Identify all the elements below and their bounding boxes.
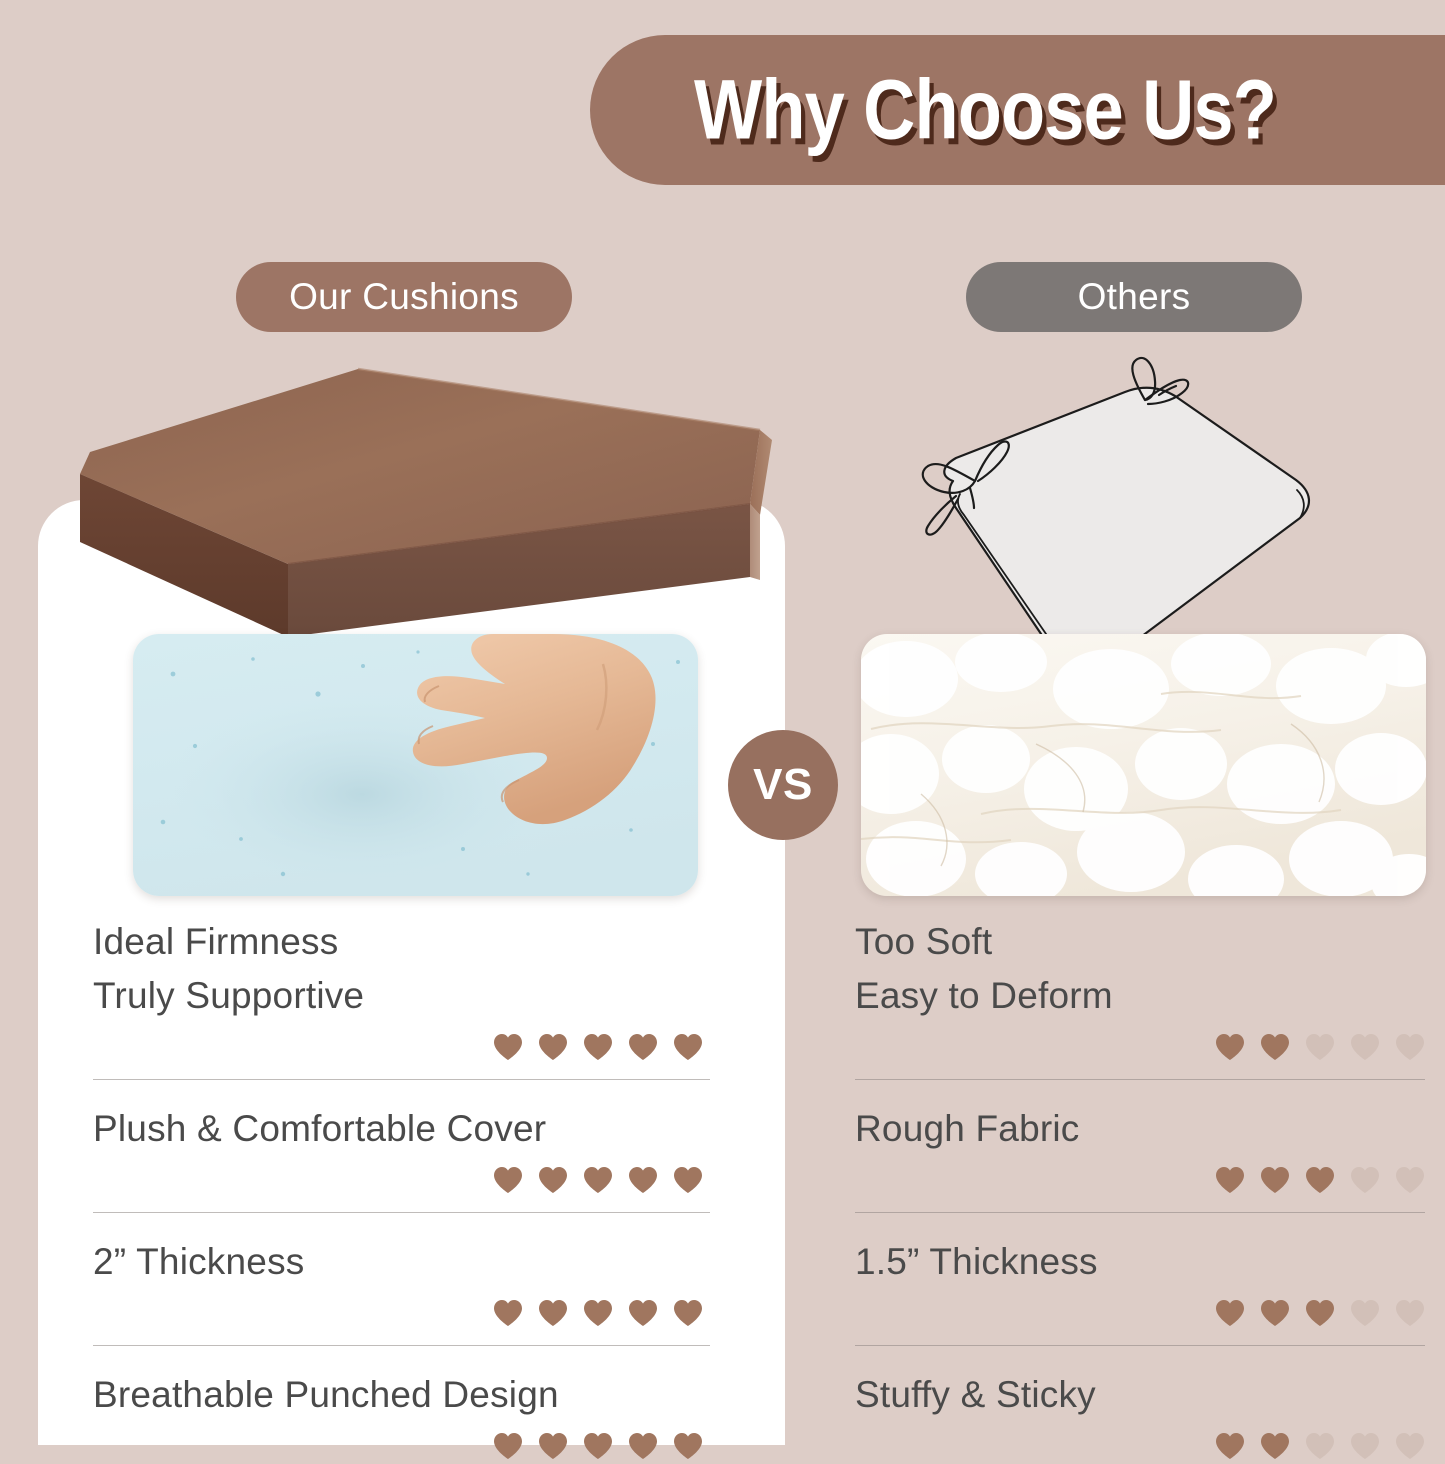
heart-icon xyxy=(583,1166,613,1194)
feature-row: Breathable Punched Design xyxy=(93,1368,710,1464)
rating-hearts xyxy=(93,1029,710,1065)
heart-icon xyxy=(1305,1166,1335,1194)
feature-label: Rough Fabric xyxy=(855,1102,1425,1156)
heart-icon xyxy=(1350,1432,1380,1460)
rating-hearts xyxy=(855,1162,1425,1198)
heart-icon xyxy=(583,1033,613,1061)
heart-icon xyxy=(1350,1033,1380,1061)
heart-icon xyxy=(493,1299,523,1327)
others-cushion-sketch xyxy=(860,348,1340,678)
heart-icon xyxy=(583,1432,613,1460)
heart-icon xyxy=(583,1299,613,1327)
row-divider xyxy=(93,1079,710,1080)
rating-hearts xyxy=(93,1162,710,1198)
heart-icon xyxy=(1305,1033,1335,1061)
our-cushions-feature-list: Ideal Firmness Truly SupportivePlush & C… xyxy=(93,915,710,1464)
heart-icon xyxy=(1215,1166,1245,1194)
feature-label: 1.5” Thickness xyxy=(855,1235,1425,1289)
feature-row: Stuffy & Sticky xyxy=(855,1368,1425,1464)
heart-icon xyxy=(1215,1033,1245,1061)
rating-hearts xyxy=(855,1295,1425,1331)
heart-icon xyxy=(1260,1033,1290,1061)
heart-icon xyxy=(628,1299,658,1327)
heart-icon xyxy=(628,1166,658,1194)
heart-icon xyxy=(673,1432,703,1460)
heart-icon xyxy=(1260,1432,1290,1460)
heart-icon xyxy=(1260,1166,1290,1194)
heart-icon xyxy=(493,1432,523,1460)
row-divider xyxy=(855,1079,1425,1080)
column-header-others-label: Others xyxy=(1078,276,1191,318)
polyester-fiberfill-image xyxy=(861,634,1426,896)
heart-icon xyxy=(1350,1299,1380,1327)
row-spacer xyxy=(93,1213,710,1235)
heart-icon xyxy=(1305,1432,1335,1460)
feature-label: Stuffy & Sticky xyxy=(855,1368,1425,1422)
feature-row: Rough Fabric xyxy=(855,1102,1425,1213)
rating-hearts xyxy=(855,1029,1425,1065)
heart-icon xyxy=(1395,1033,1425,1061)
heart-icon xyxy=(673,1033,703,1061)
vs-badge-label: VS xyxy=(753,760,813,810)
feature-label: Plush & Comfortable Cover xyxy=(93,1102,710,1156)
heart-icon xyxy=(673,1166,703,1194)
heart-icon xyxy=(1305,1299,1335,1327)
column-header-others: Others xyxy=(966,262,1302,332)
heart-icon xyxy=(673,1299,703,1327)
memory-foam-hand-test-image xyxy=(133,634,698,896)
heart-icon xyxy=(538,1299,568,1327)
row-spacer xyxy=(855,1080,1425,1102)
heart-icon xyxy=(628,1033,658,1061)
row-spacer xyxy=(855,1213,1425,1235)
row-divider xyxy=(855,1345,1425,1346)
row-spacer xyxy=(93,1346,710,1368)
heart-icon xyxy=(1395,1432,1425,1460)
heart-icon xyxy=(538,1432,568,1460)
heart-icon xyxy=(493,1166,523,1194)
heart-icon xyxy=(628,1432,658,1460)
feature-row: 2” Thickness xyxy=(93,1235,710,1346)
heart-icon xyxy=(538,1033,568,1061)
header-banner: Why Choose Us? xyxy=(590,35,1445,185)
heart-icon xyxy=(538,1166,568,1194)
heart-icon xyxy=(1395,1166,1425,1194)
our-cushion-product-image xyxy=(60,352,780,642)
rating-hearts xyxy=(855,1428,1425,1464)
row-divider xyxy=(93,1212,710,1213)
feature-label: 2” Thickness xyxy=(93,1235,710,1289)
heart-icon xyxy=(1260,1299,1290,1327)
feature-row: 1.5” Thickness xyxy=(855,1235,1425,1346)
row-spacer xyxy=(855,1346,1425,1368)
feature-row: Ideal Firmness Truly Supportive xyxy=(93,915,710,1080)
page-title: Why Choose Us? xyxy=(645,62,1324,159)
heart-icon xyxy=(1215,1432,1245,1460)
row-spacer xyxy=(93,1080,710,1102)
column-header-our-cushions: Our Cushions xyxy=(236,262,572,332)
heart-icon xyxy=(1395,1299,1425,1327)
feature-label: Breathable Punched Design xyxy=(93,1368,710,1422)
others-feature-list: Too Soft Easy to DeformRough Fabric1.5” … xyxy=(855,915,1425,1464)
heart-icon xyxy=(1215,1299,1245,1327)
vs-badge: VS xyxy=(728,730,838,840)
feature-label: Ideal Firmness Truly Supportive xyxy=(93,915,710,1023)
feature-row: Plush & Comfortable Cover xyxy=(93,1102,710,1213)
row-divider xyxy=(855,1212,1425,1213)
feature-label: Too Soft Easy to Deform xyxy=(855,915,1425,1023)
rating-hearts xyxy=(93,1428,710,1464)
row-divider xyxy=(93,1345,710,1346)
heart-icon xyxy=(493,1033,523,1061)
rating-hearts xyxy=(93,1295,710,1331)
heart-icon xyxy=(1350,1166,1380,1194)
feature-row: Too Soft Easy to Deform xyxy=(855,915,1425,1080)
column-header-our-cushions-label: Our Cushions xyxy=(289,276,519,318)
